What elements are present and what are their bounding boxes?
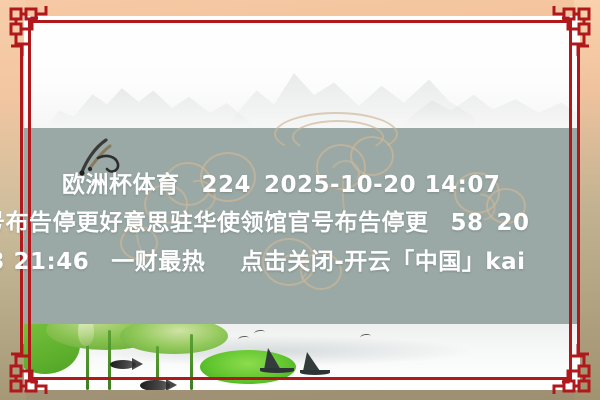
mountain-range-left [42, 72, 252, 134]
decorative-card: 欧洲杯体育2242025-10-20 14:07 号布告停更好意思驻华使领馆官号… [0, 0, 600, 400]
lotus-stem [190, 334, 193, 390]
fret-corner-top-right [532, 4, 592, 64]
fret-border-bottom [30, 377, 570, 380]
boat-sail [264, 348, 281, 370]
fret-border-right-inner [577, 46, 580, 356]
fish-tail [166, 379, 177, 390]
artwork-panel [24, 16, 580, 390]
fish-tail [132, 358, 143, 370]
lotus-pond [24, 324, 580, 390]
cloud-puff [120, 226, 158, 260]
lotus-stem [108, 330, 111, 390]
cloud-tail [342, 176, 368, 228]
fret-border-top [30, 20, 570, 23]
boat-hull [260, 368, 294, 373]
boat-sail [303, 352, 320, 371]
fret-corner-bottom-right [532, 336, 592, 396]
cloud-arc [292, 120, 384, 154]
brush-stroke-mark [76, 128, 130, 180]
fret-corner-bottom-left [8, 336, 68, 396]
fret-border-left-inner [20, 46, 23, 356]
fret-border-right [569, 20, 572, 380]
fret-corner-top-left [8, 4, 68, 64]
fret-border-left [28, 20, 31, 380]
boat-hull [300, 370, 330, 375]
